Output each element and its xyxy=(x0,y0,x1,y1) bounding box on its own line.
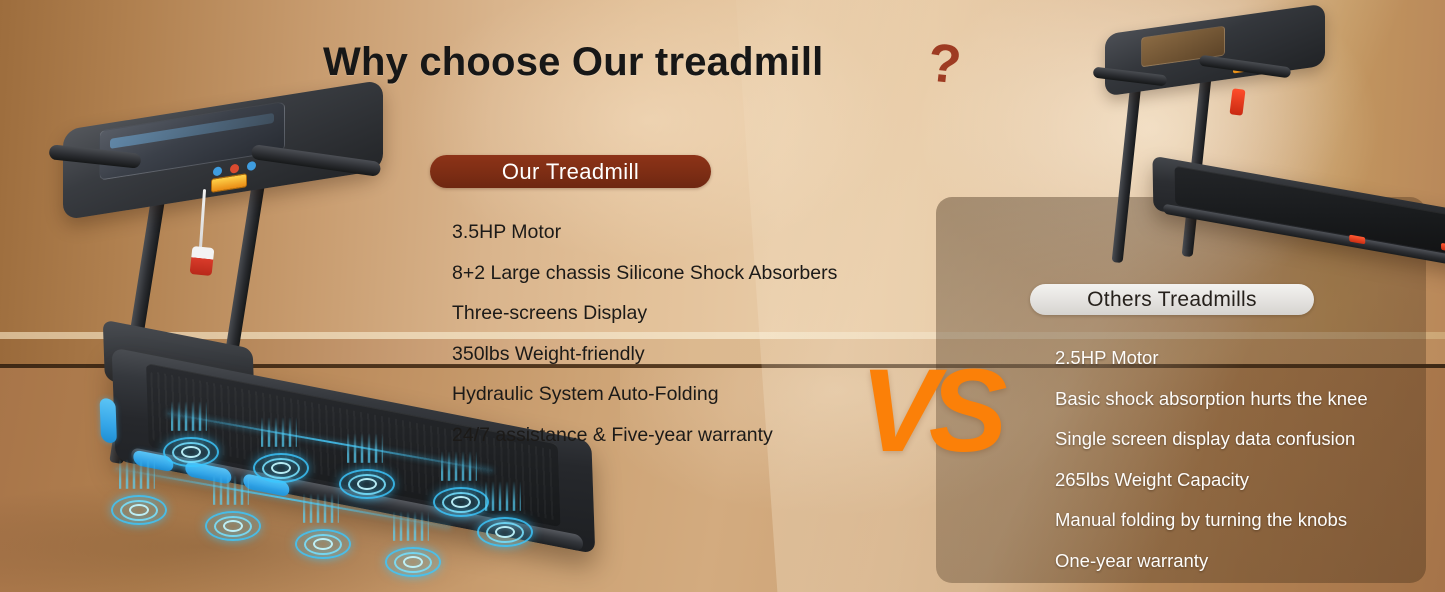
page-title: Why choose Our treadmill xyxy=(323,40,823,85)
shock-absorber-glow-icon xyxy=(163,423,215,475)
others-feature-list: 2.5HP Motor Basic shock absorption hurts… xyxy=(1055,338,1435,581)
our-feature-item: 24/7 assistance & Five-year warranty xyxy=(452,415,882,456)
console-button-red xyxy=(230,163,239,173)
promo-banner: Why choose Our treadmill ? Our Treadmill… xyxy=(0,0,1445,592)
others-feature-item: 265lbs Weight Capacity xyxy=(1055,460,1435,501)
shock-absorber-glow-icon xyxy=(477,503,529,555)
our-feature-item: 8+2 Large chassis Silicone Shock Absorbe… xyxy=(452,253,882,294)
competitor-folding-knob xyxy=(1229,88,1245,115)
our-treadmill-badge-label: Our Treadmill xyxy=(430,155,711,188)
question-mark-icon: ? xyxy=(925,31,964,96)
our-feature-item: 3.5HP Motor xyxy=(452,212,882,253)
competitor-running-belt xyxy=(1175,166,1445,256)
others-treadmills-badge-label: Others Treadmills xyxy=(1030,284,1314,315)
our-silicone-pad-side xyxy=(99,397,117,444)
our-feature-item: Three-screens Display xyxy=(452,293,882,334)
others-treadmills-badge: Others Treadmills xyxy=(1030,284,1314,315)
others-feature-item: Single screen display data confusion xyxy=(1055,419,1435,460)
our-feature-item: Hydraulic System Auto-Folding xyxy=(452,374,882,415)
our-feature-list: 3.5HP Motor 8+2 Large chassis Silicone S… xyxy=(452,212,882,455)
others-feature-item: Basic shock absorption hurts the knee xyxy=(1055,379,1435,420)
our-feature-item: 350lbs Weight-friendly xyxy=(452,334,882,375)
shock-absorber-glow-icon xyxy=(253,439,305,491)
others-feature-item: 2.5HP Motor xyxy=(1055,338,1435,379)
our-safety-clip xyxy=(190,246,215,276)
shock-absorber-glow-icon xyxy=(111,481,163,533)
others-feature-item: One-year warranty xyxy=(1055,541,1435,582)
competitor-treadmill-photo xyxy=(1035,5,1435,275)
shock-absorber-glow-icon xyxy=(339,455,391,507)
shock-absorber-glow-icon xyxy=(205,497,257,549)
console-button-blue-2 xyxy=(247,160,256,170)
competitor-deck xyxy=(1152,156,1445,285)
competitor-post-left xyxy=(1112,83,1142,263)
console-button-blue xyxy=(213,166,222,176)
vs-label: VS xyxy=(860,352,997,470)
shock-absorber-glow-icon xyxy=(295,515,347,567)
shock-absorber-glow-icon xyxy=(385,533,437,585)
others-feature-item: Manual folding by turning the knobs xyxy=(1055,500,1435,541)
our-treadmill-badge: Our Treadmill xyxy=(430,155,711,188)
